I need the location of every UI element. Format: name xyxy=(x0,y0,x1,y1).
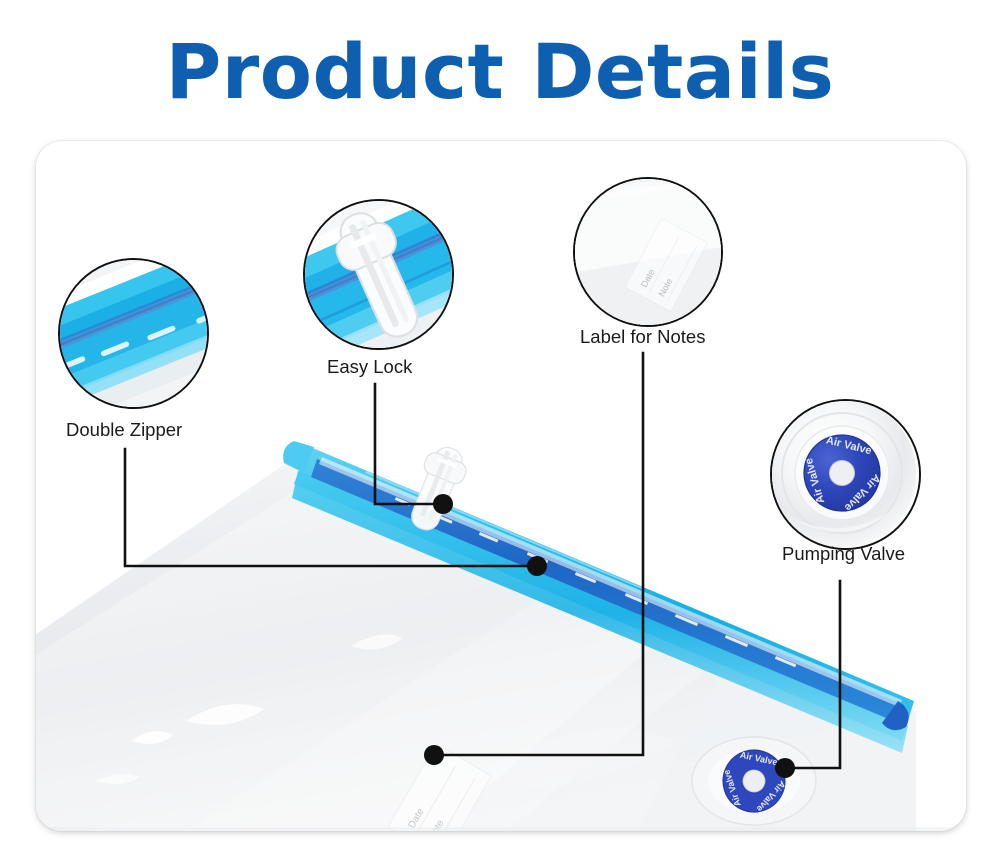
magnifier-content-zipper xyxy=(58,258,209,409)
callout-label-easy-lock: Easy Lock xyxy=(327,356,412,378)
callout-label-double-zipper: Double Zipper xyxy=(66,419,182,441)
callout-label-pumping-valve: Pumping Valve xyxy=(782,543,905,565)
callout-label-label-for-notes: Label for Notes xyxy=(580,326,705,348)
magnifier-pumping-valve: Air Valve Air Valve Air Valve xyxy=(770,399,921,550)
page-title: Product Details xyxy=(0,34,1000,110)
product-details-page: Product Details xyxy=(0,0,1000,843)
bag-air-valve: Air Valve Air Valve Air Valve xyxy=(692,737,816,825)
magnifier-content-lock xyxy=(303,199,454,350)
easy-lock-macro-art xyxy=(303,199,454,350)
note-label-macro-art: Date Note xyxy=(573,177,723,327)
zipper-macro-art xyxy=(58,258,209,409)
magnifier-content-note: Date Note xyxy=(573,177,723,327)
valve-macro-art: Air Valve Air Valve Air Valve xyxy=(770,399,920,549)
magnifier-double-zipper xyxy=(58,258,209,409)
magnifier-easy-lock xyxy=(303,199,454,350)
magnifier-label-for-notes: Date Note xyxy=(573,177,723,327)
magnifier-content-valve: Air Valve Air Valve Air Valve xyxy=(770,399,921,550)
